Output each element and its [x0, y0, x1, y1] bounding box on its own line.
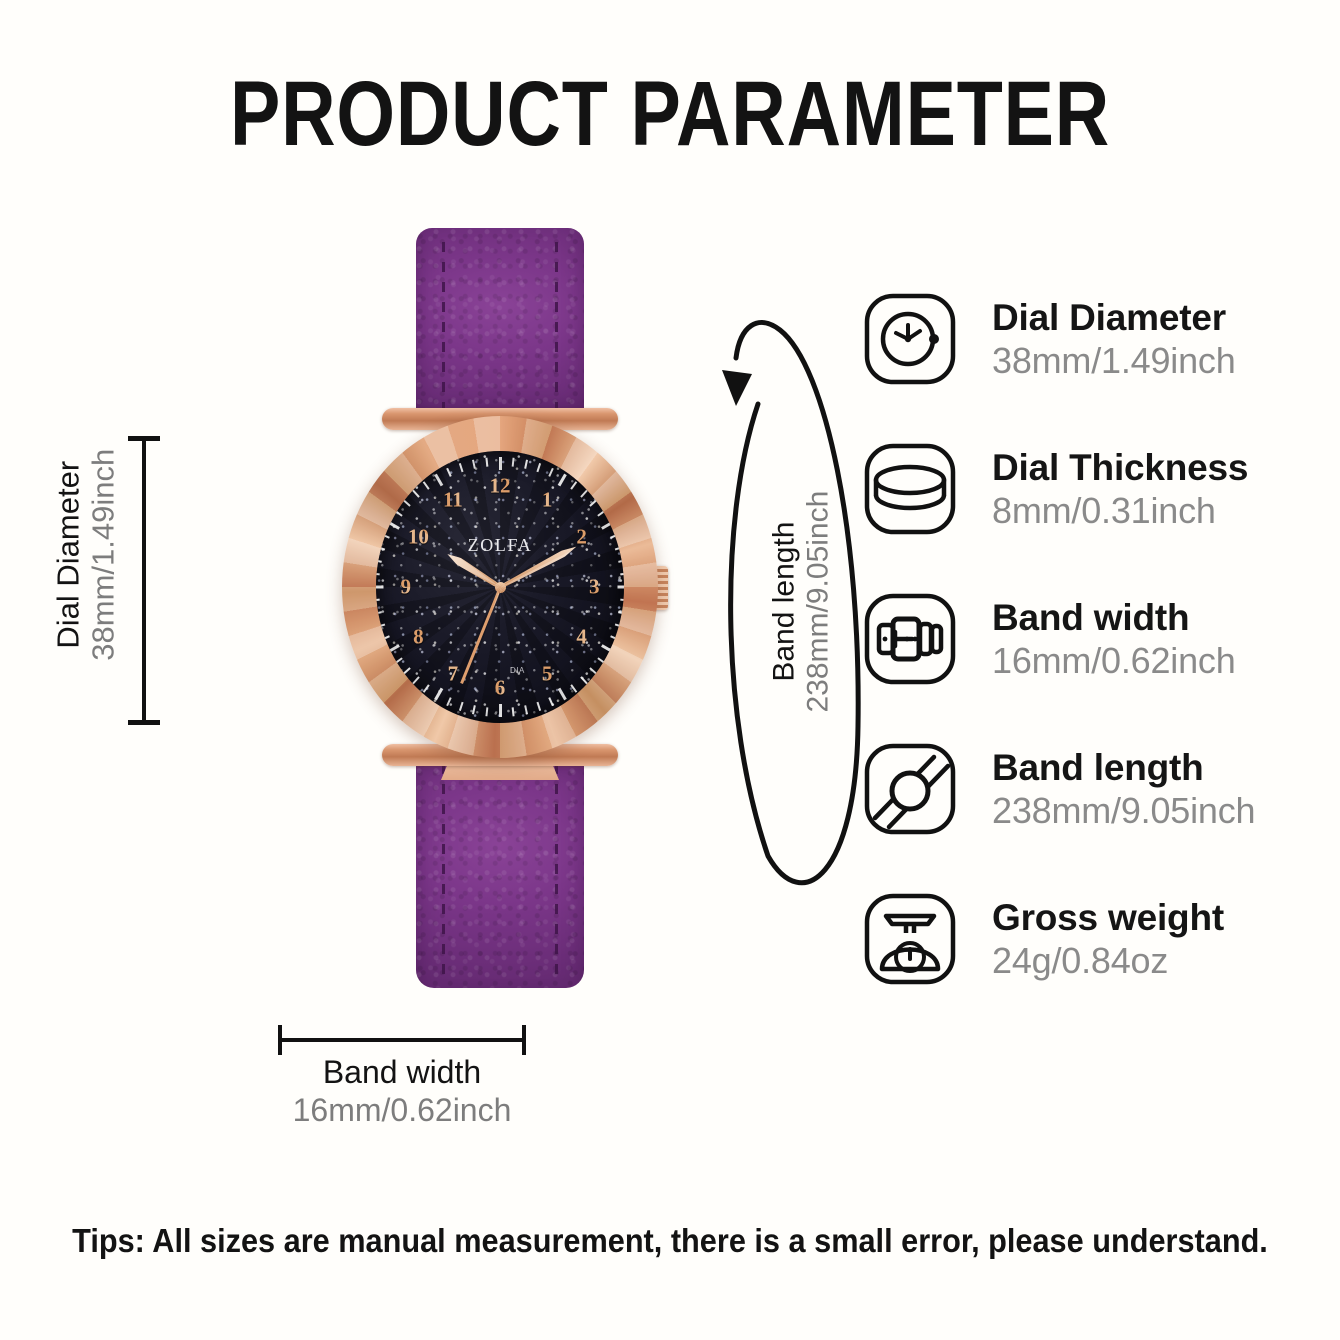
- dial-numeral: 7: [448, 662, 459, 687]
- dial-tick: [499, 457, 502, 470]
- dial-tick: [601, 521, 614, 530]
- dial-tick: [381, 533, 390, 538]
- spec-value: 16mm/0.62inch: [992, 640, 1312, 682]
- dial-tick: [459, 702, 464, 711]
- dial-tick: [548, 468, 553, 477]
- spec-row-gross-weight: Gross weight 24g/0.84oz: [862, 880, 1312, 998]
- dial-tick: [620, 572, 624, 575]
- starry-dial-texture: [376, 451, 624, 723]
- spec-row-band-length: Band length 238mm/9.05inch: [862, 730, 1312, 848]
- second-hand: [460, 586, 502, 684]
- spec-row-dial-thickness: Dial Thickness 8mm/0.31inch: [862, 430, 1312, 548]
- minute-hand: [498, 544, 577, 591]
- dimension-cap-right: [522, 1025, 526, 1055]
- dial-tick: [446, 697, 451, 706]
- dial-numeral: 5: [542, 662, 553, 687]
- dial-tick: [570, 684, 577, 692]
- dial-tick: [617, 586, 624, 589]
- spec-text-band-length: Band length 238mm/9.05inch: [992, 747, 1312, 832]
- watch-case-bezel: 123456789101112 ZOLFA DIA: [342, 416, 658, 758]
- dial-tick: [412, 676, 420, 684]
- dial-tick: [423, 481, 430, 489]
- band-width-dimension-value: 16mm/0.62inch: [272, 1092, 532, 1130]
- hour-hand: [445, 551, 502, 591]
- spec-row-band-width: Band width 16mm/0.62inch: [862, 580, 1312, 698]
- watch-dial-icon: [862, 291, 958, 387]
- dial-diameter-dimension-labels: Dial Diameter 38mm/1.49inch: [51, 405, 120, 705]
- watch-strap-bottom: [416, 750, 584, 988]
- dial-tick: [580, 490, 588, 498]
- spec-text-dial-thickness: Dial Thickness 8mm/0.31inch: [992, 447, 1312, 532]
- watch-dial: 123456789101112 ZOLFA DIA: [376, 451, 624, 723]
- scale-icon: [862, 891, 958, 987]
- dial-tick: [524, 460, 528, 469]
- spec-row-dial-diameter: Dial Diameter 38mm/1.49inch: [862, 280, 1312, 398]
- dial-numeral: 9: [401, 575, 412, 600]
- dial-tick: [601, 644, 614, 653]
- band-length-annotation-labels: Band length 238mm/9.05inch: [767, 367, 834, 837]
- dial-tick: [548, 697, 553, 706]
- dial-brand-text: ZOLFA: [468, 535, 533, 556]
- dial-tick: [615, 623, 624, 628]
- spec-label: Dial Thickness: [992, 447, 1312, 490]
- dial-tick: [557, 474, 566, 487]
- spec-value: 24g/0.84oz: [992, 940, 1312, 982]
- spec-label: Dial Diameter: [992, 297, 1312, 340]
- dial-tick: [376, 599, 380, 602]
- dimension-line-horizontal: [278, 1038, 526, 1042]
- strap-case-icon: [862, 741, 958, 837]
- dial-tick: [376, 586, 383, 589]
- dial-tick: [376, 546, 385, 551]
- dial-diameter-dimension-label: Dial Diameter: [51, 405, 86, 705]
- spec-value: 8mm/0.31inch: [992, 490, 1312, 532]
- dial-tick: [376, 611, 382, 615]
- dimension-cap-bottom: [128, 720, 160, 725]
- spec-label: Gross weight: [992, 897, 1312, 940]
- dial-tick: [499, 704, 502, 717]
- dial-tick-ring: [376, 451, 624, 723]
- dial-numeral: 12: [490, 474, 511, 499]
- hands-pivot: [495, 582, 506, 593]
- dial-tick: [524, 705, 528, 714]
- dial-tick: [589, 667, 597, 675]
- spec-text-band-width: Band width 16mm/0.62inch: [992, 597, 1312, 682]
- tips-note: Tips: All sizes are manual measurement, …: [47, 1222, 1293, 1260]
- dial-tick: [403, 499, 411, 507]
- dial-tick: [485, 458, 488, 467]
- dial-tick: [472, 460, 476, 469]
- product-parameter-page: PRODUCT PARAMETER Dial Diameter 38mm/1.4…: [0, 0, 1340, 1340]
- dial-tick: [512, 707, 515, 716]
- band-width-dimension-label: Band width: [272, 1054, 532, 1092]
- dial-tick: [459, 463, 464, 472]
- dimension-line-vertical: [142, 438, 146, 722]
- spec-label: Band length: [992, 747, 1312, 790]
- dial-numeral: 11: [443, 487, 463, 512]
- dial-tick: [387, 644, 400, 653]
- buckle-icon: [862, 591, 958, 687]
- dial-tick: [394, 510, 402, 517]
- dial-tick: [412, 490, 420, 498]
- spec-label: Band width: [992, 597, 1312, 640]
- spec-list: Dial Diameter 38mm/1.49inch Dial Thickne…: [862, 280, 1312, 1030]
- strap-stitch-left: [442, 242, 445, 410]
- dial-diameter-dimension: Dial Diameter 38mm/1.49inch: [22, 430, 182, 730]
- disc-thickness-icon: [862, 441, 958, 537]
- dial-tick: [618, 559, 624, 563]
- dial-numeral: 2: [576, 524, 587, 549]
- watch-product-image: 123456789101112 ZOLFA DIA: [340, 228, 660, 988]
- spec-value: 38mm/1.49inch: [992, 340, 1312, 382]
- dial-numeral: 4: [576, 625, 587, 650]
- dial-numeral: 1: [542, 487, 553, 512]
- strap-stitch-right: [555, 764, 558, 974]
- dial-tick: [376, 623, 385, 628]
- dial-numeral: 6: [495, 675, 506, 700]
- dial-tick: [376, 559, 382, 563]
- dial-tick: [589, 499, 597, 507]
- dial-tick: [597, 510, 605, 517]
- band-length-annotation-label: Band length: [767, 367, 801, 837]
- dial-tick: [610, 533, 619, 538]
- dial-tick: [610, 635, 619, 640]
- dial-tick: [485, 707, 488, 716]
- strap-stitch-left: [442, 764, 445, 974]
- dial-tick: [615, 546, 624, 551]
- dial-tick: [376, 572, 380, 575]
- dial-numeral: 3: [589, 575, 600, 600]
- watch-strap-top: [416, 228, 584, 424]
- dial-tick: [472, 705, 476, 714]
- dial-tick: [403, 667, 411, 675]
- dial-tick: [387, 521, 400, 530]
- strap-stitch-right: [555, 242, 558, 410]
- dial-submark-text: DIA: [510, 666, 525, 675]
- band-length-annotation-value: 238mm/9.05inch: [801, 367, 835, 837]
- dial-tick: [570, 481, 577, 489]
- band-width-dimension: Band width 16mm/0.62inch: [272, 1038, 532, 1130]
- dial-tick: [381, 635, 390, 640]
- dial-numeral: 8: [413, 625, 424, 650]
- dial-tick: [434, 474, 443, 487]
- band-length-loop-annotation: Band length 238mm/9.05inch: [706, 296, 876, 916]
- spec-text-dial-diameter: Dial Diameter 38mm/1.49inch: [992, 297, 1312, 382]
- dial-tick: [512, 458, 515, 467]
- dial-tick: [597, 657, 605, 664]
- spec-value: 238mm/9.05inch: [992, 790, 1312, 832]
- dial-tick: [536, 463, 541, 472]
- dial-tick: [423, 684, 430, 692]
- dial-diameter-dimension-value: 38mm/1.49inch: [86, 405, 121, 705]
- dial-tick: [446, 468, 451, 477]
- dial-tick: [618, 611, 624, 615]
- spec-text-gross-weight: Gross weight 24g/0.84oz: [992, 897, 1312, 982]
- dial-tick: [394, 657, 402, 664]
- dial-numeral: 10: [408, 524, 429, 549]
- dial-tick: [434, 688, 443, 701]
- dial-tick: [536, 702, 541, 711]
- dial-tick: [580, 676, 588, 684]
- page-title: PRODUCT PARAMETER: [121, 62, 1220, 167]
- dimension-cap-left: [278, 1025, 282, 1055]
- dial-tick: [557, 688, 566, 701]
- dial-tick: [620, 599, 624, 602]
